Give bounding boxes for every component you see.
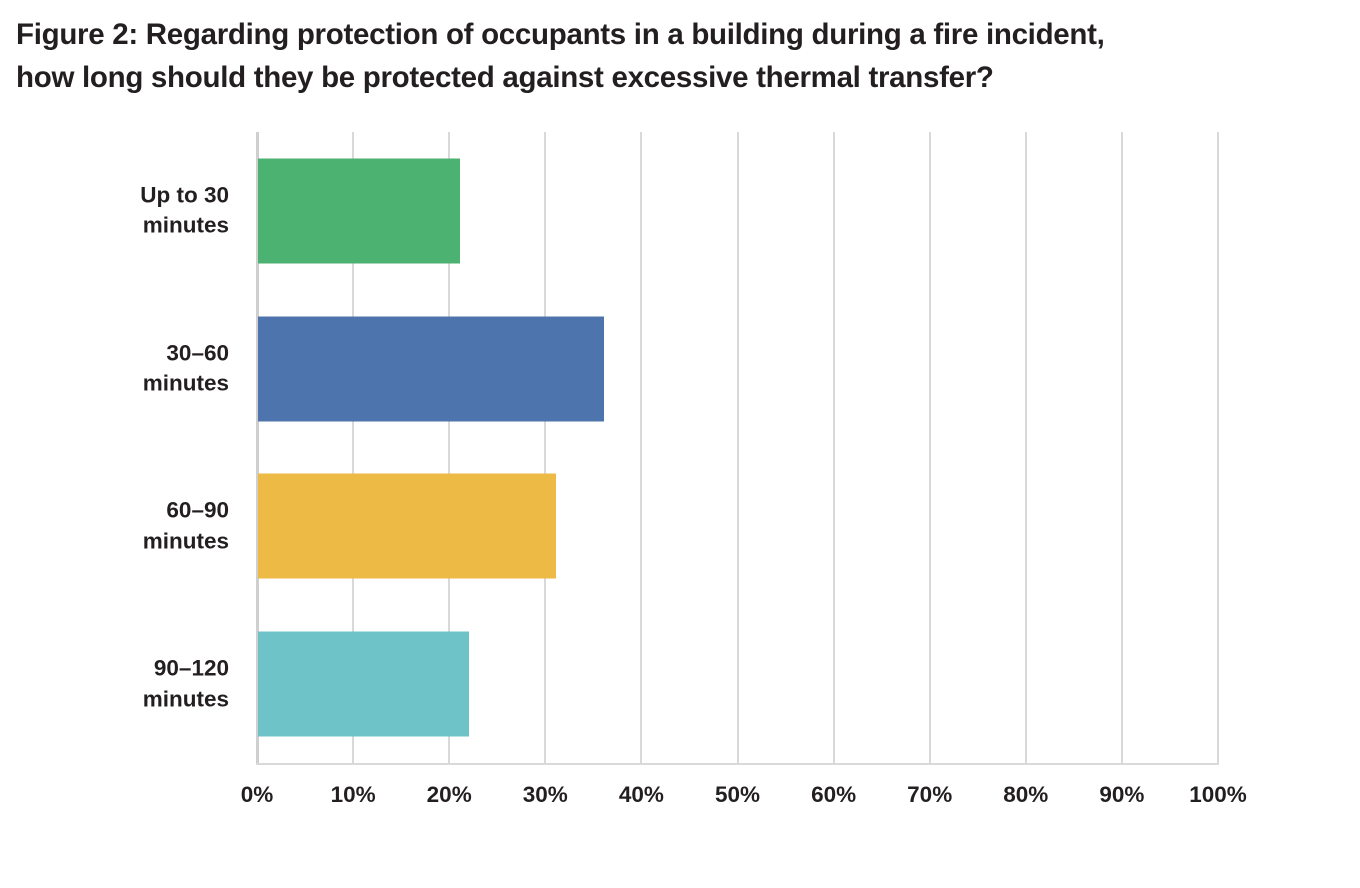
bar-30-60-minutes[interactable] bbox=[258, 316, 604, 421]
x-tick-label-50pct: 50% bbox=[715, 782, 760, 808]
y-axis-label-up-to-30-minutes: Up to 30 minutes bbox=[0, 132, 229, 290]
bar-band bbox=[257, 290, 1218, 448]
y-axis-label-30-60-minutes: 30–60 minutes bbox=[0, 290, 229, 448]
y-axis-label-text: Up to 30 minutes bbox=[0, 181, 229, 242]
figure-container: Figure 2: Regarding protection of occupa… bbox=[0, 0, 1360, 888]
x-tick-label-30pct: 30% bbox=[523, 782, 568, 808]
x-tick-label-20pct: 20% bbox=[427, 782, 472, 808]
bar-up-to-30-minutes[interactable] bbox=[258, 158, 460, 263]
x-tick-label-80pct: 80% bbox=[1003, 782, 1048, 808]
bar-90-120-minutes[interactable] bbox=[258, 632, 469, 737]
x-tick-label-90pct: 90% bbox=[1099, 782, 1144, 808]
x-tick-label-100pct: 100% bbox=[1189, 782, 1247, 808]
x-tick-label-0pct: 0% bbox=[241, 782, 274, 808]
y-axis-label-60-90-minutes: 60–90 minutes bbox=[0, 448, 229, 606]
page-title: Figure 2: Regarding protection of occupa… bbox=[16, 14, 1316, 100]
x-tick-label-60pct: 60% bbox=[811, 782, 856, 808]
x-tick-label-10pct: 10% bbox=[331, 782, 376, 808]
bar-series bbox=[257, 132, 1218, 763]
x-tick-label-40pct: 40% bbox=[619, 782, 664, 808]
x-tick-label-70pct: 70% bbox=[907, 782, 952, 808]
plot-area bbox=[257, 132, 1218, 763]
y-axis-category-labels: Up to 30 minutes 30–60 minutes 60–90 min… bbox=[0, 132, 243, 763]
y-axis-label-text: 90–120 minutes bbox=[0, 654, 229, 715]
y-axis-label-text: 60–90 minutes bbox=[0, 496, 229, 557]
y-axis-label-90-120-minutes: 90–120 minutes bbox=[0, 605, 229, 763]
bar-band bbox=[257, 448, 1218, 606]
y-axis-label-text: 30–60 minutes bbox=[0, 338, 229, 399]
x-axis-baseline bbox=[256, 763, 1219, 765]
bar-band bbox=[257, 132, 1218, 290]
x-axis-tick-labels: 0%10%20%30%40%50%60%70%80%90%100% bbox=[257, 782, 1218, 822]
bar-band bbox=[257, 605, 1218, 763]
bar-60-90-minutes[interactable] bbox=[258, 474, 556, 579]
